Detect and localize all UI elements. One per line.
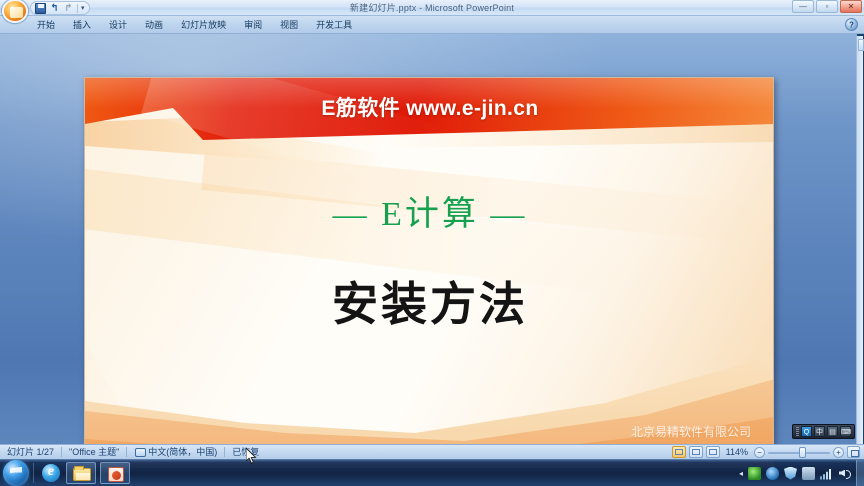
status-bar: 幻灯片 1/27 "Office 主题" 中文(简体，中国) 已恢复 114% …: [0, 444, 864, 459]
windows-explorer-icon[interactable]: [66, 462, 96, 484]
tab-slideshow[interactable]: 幻灯片放映: [172, 17, 235, 33]
slide-canvas[interactable]: E筋软件 www.e-jin.cn — E计算 — 安装方法 北京易精软件有限公…: [84, 77, 774, 468]
ime-key-language[interactable]: Q: [801, 426, 812, 437]
windows-taskbar: ◂: [0, 459, 864, 486]
tray-app-icon[interactable]: [766, 467, 779, 480]
vertical-scrollbar[interactable]: [856, 36, 863, 444]
slideshow-view-button[interactable]: [706, 446, 720, 458]
title-main-text: E计算: [381, 196, 479, 233]
powerpoint-taskbar-icon[interactable]: [100, 462, 130, 484]
language-indicator[interactable]: 中文(简体，中国): [141, 446, 224, 459]
status-right-group: 114% − +: [672, 446, 864, 458]
tray-volume-icon[interactable]: [838, 467, 851, 480]
ime-floating-toolbar[interactable]: Q 中 ▤ ⌨: [792, 424, 855, 439]
maximize-button[interactable]: ▫: [816, 0, 838, 13]
tray-network-signal-icon[interactable]: [820, 467, 833, 480]
tray-overflow-icon[interactable]: ◂: [739, 469, 743, 478]
show-desktop-button[interactable]: [856, 460, 864, 486]
office-button[interactable]: [2, 0, 28, 23]
zoom-slider-thumb[interactable]: [799, 447, 806, 458]
zoom-in-button[interactable]: +: [833, 447, 844, 458]
zoom-out-button[interactable]: −: [754, 447, 765, 458]
window-controls: — ▫ ✕: [792, 0, 862, 13]
ime-key-chinese[interactable]: 中: [814, 426, 825, 437]
slide-subtitle: 安装方法: [85, 268, 774, 334]
slide-counter[interactable]: 幻灯片 1/27: [0, 446, 61, 459]
minimize-button[interactable]: —: [792, 0, 814, 13]
tab-design[interactable]: 设计: [100, 17, 136, 33]
maximize-icon: ▫: [826, 3, 829, 11]
close-icon: ✕: [848, 3, 855, 11]
folder-glyph-icon: [73, 468, 91, 481]
powerpoint-glyph-icon: [108, 467, 124, 482]
tab-developer[interactable]: 开发工具: [307, 17, 361, 33]
slide-workspace: E筋软件 www.e-jin.cn — E计算 — 安装方法 北京易精软件有限公…: [0, 34, 857, 444]
ie-glyph-icon: [42, 464, 60, 482]
taskbar-divider: [33, 463, 34, 483]
slide-title: — E计算 —: [85, 186, 774, 235]
footer-company: 北京易精软件有限公司: [631, 424, 751, 441]
title-bar: ↰ ↱ ▾ 新建幻灯片.pptx - Microsoft PowerPoint …: [0, 0, 864, 16]
help-icon[interactable]: [845, 18, 858, 31]
tray-security-shield-icon[interactable]: [784, 467, 797, 480]
zoom-slider[interactable]: [768, 447, 830, 458]
tray-network-activity-icon[interactable]: [748, 467, 761, 480]
spellcheck-icon[interactable]: [127, 446, 141, 459]
ime-key-panel[interactable]: ▤: [827, 426, 838, 437]
internet-explorer-icon[interactable]: [40, 462, 62, 484]
theme-name[interactable]: "Office 主题": [62, 446, 126, 459]
tab-view[interactable]: 视图: [271, 17, 307, 33]
ime-drag-handle[interactable]: [796, 427, 799, 437]
recovered-status[interactable]: 已恢复: [225, 446, 266, 459]
banner-title: E筋软件 www.e-jin.cn: [85, 92, 774, 122]
ime-key-keyboard[interactable]: ⌨: [840, 426, 851, 437]
ribbon-tab-bar: 开始 插入 设计 动画 幻灯片放映 审阅 视图 开发工具: [0, 16, 864, 34]
tray-device-icon[interactable]: [802, 467, 815, 480]
tab-review[interactable]: 审阅: [235, 17, 271, 33]
slide-sorter-button[interactable]: [689, 446, 703, 458]
powerpoint-window: ↰ ↱ ▾ 新建幻灯片.pptx - Microsoft PowerPoint …: [0, 0, 864, 486]
zoom-level: 114%: [723, 447, 751, 457]
minimize-icon: —: [799, 3, 807, 11]
tab-insert[interactable]: 插入: [64, 17, 100, 33]
title-dash-left: —: [333, 196, 370, 233]
fit-slide-to-window-button[interactable]: [847, 446, 860, 458]
tab-animations[interactable]: 动画: [136, 17, 172, 33]
title-dash-right: —: [490, 196, 527, 233]
window-title: 新建幻灯片.pptx - Microsoft PowerPoint: [0, 1, 864, 14]
tab-home[interactable]: 开始: [28, 17, 64, 33]
ribbon-tabs: 开始 插入 设计 动画 幻灯片放映 审阅 视图 开发工具: [28, 16, 361, 34]
system-tray: ◂: [739, 467, 856, 480]
start-button-icon[interactable]: [3, 460, 29, 486]
close-button[interactable]: ✕: [840, 0, 862, 13]
normal-view-button[interactable]: [672, 446, 686, 458]
